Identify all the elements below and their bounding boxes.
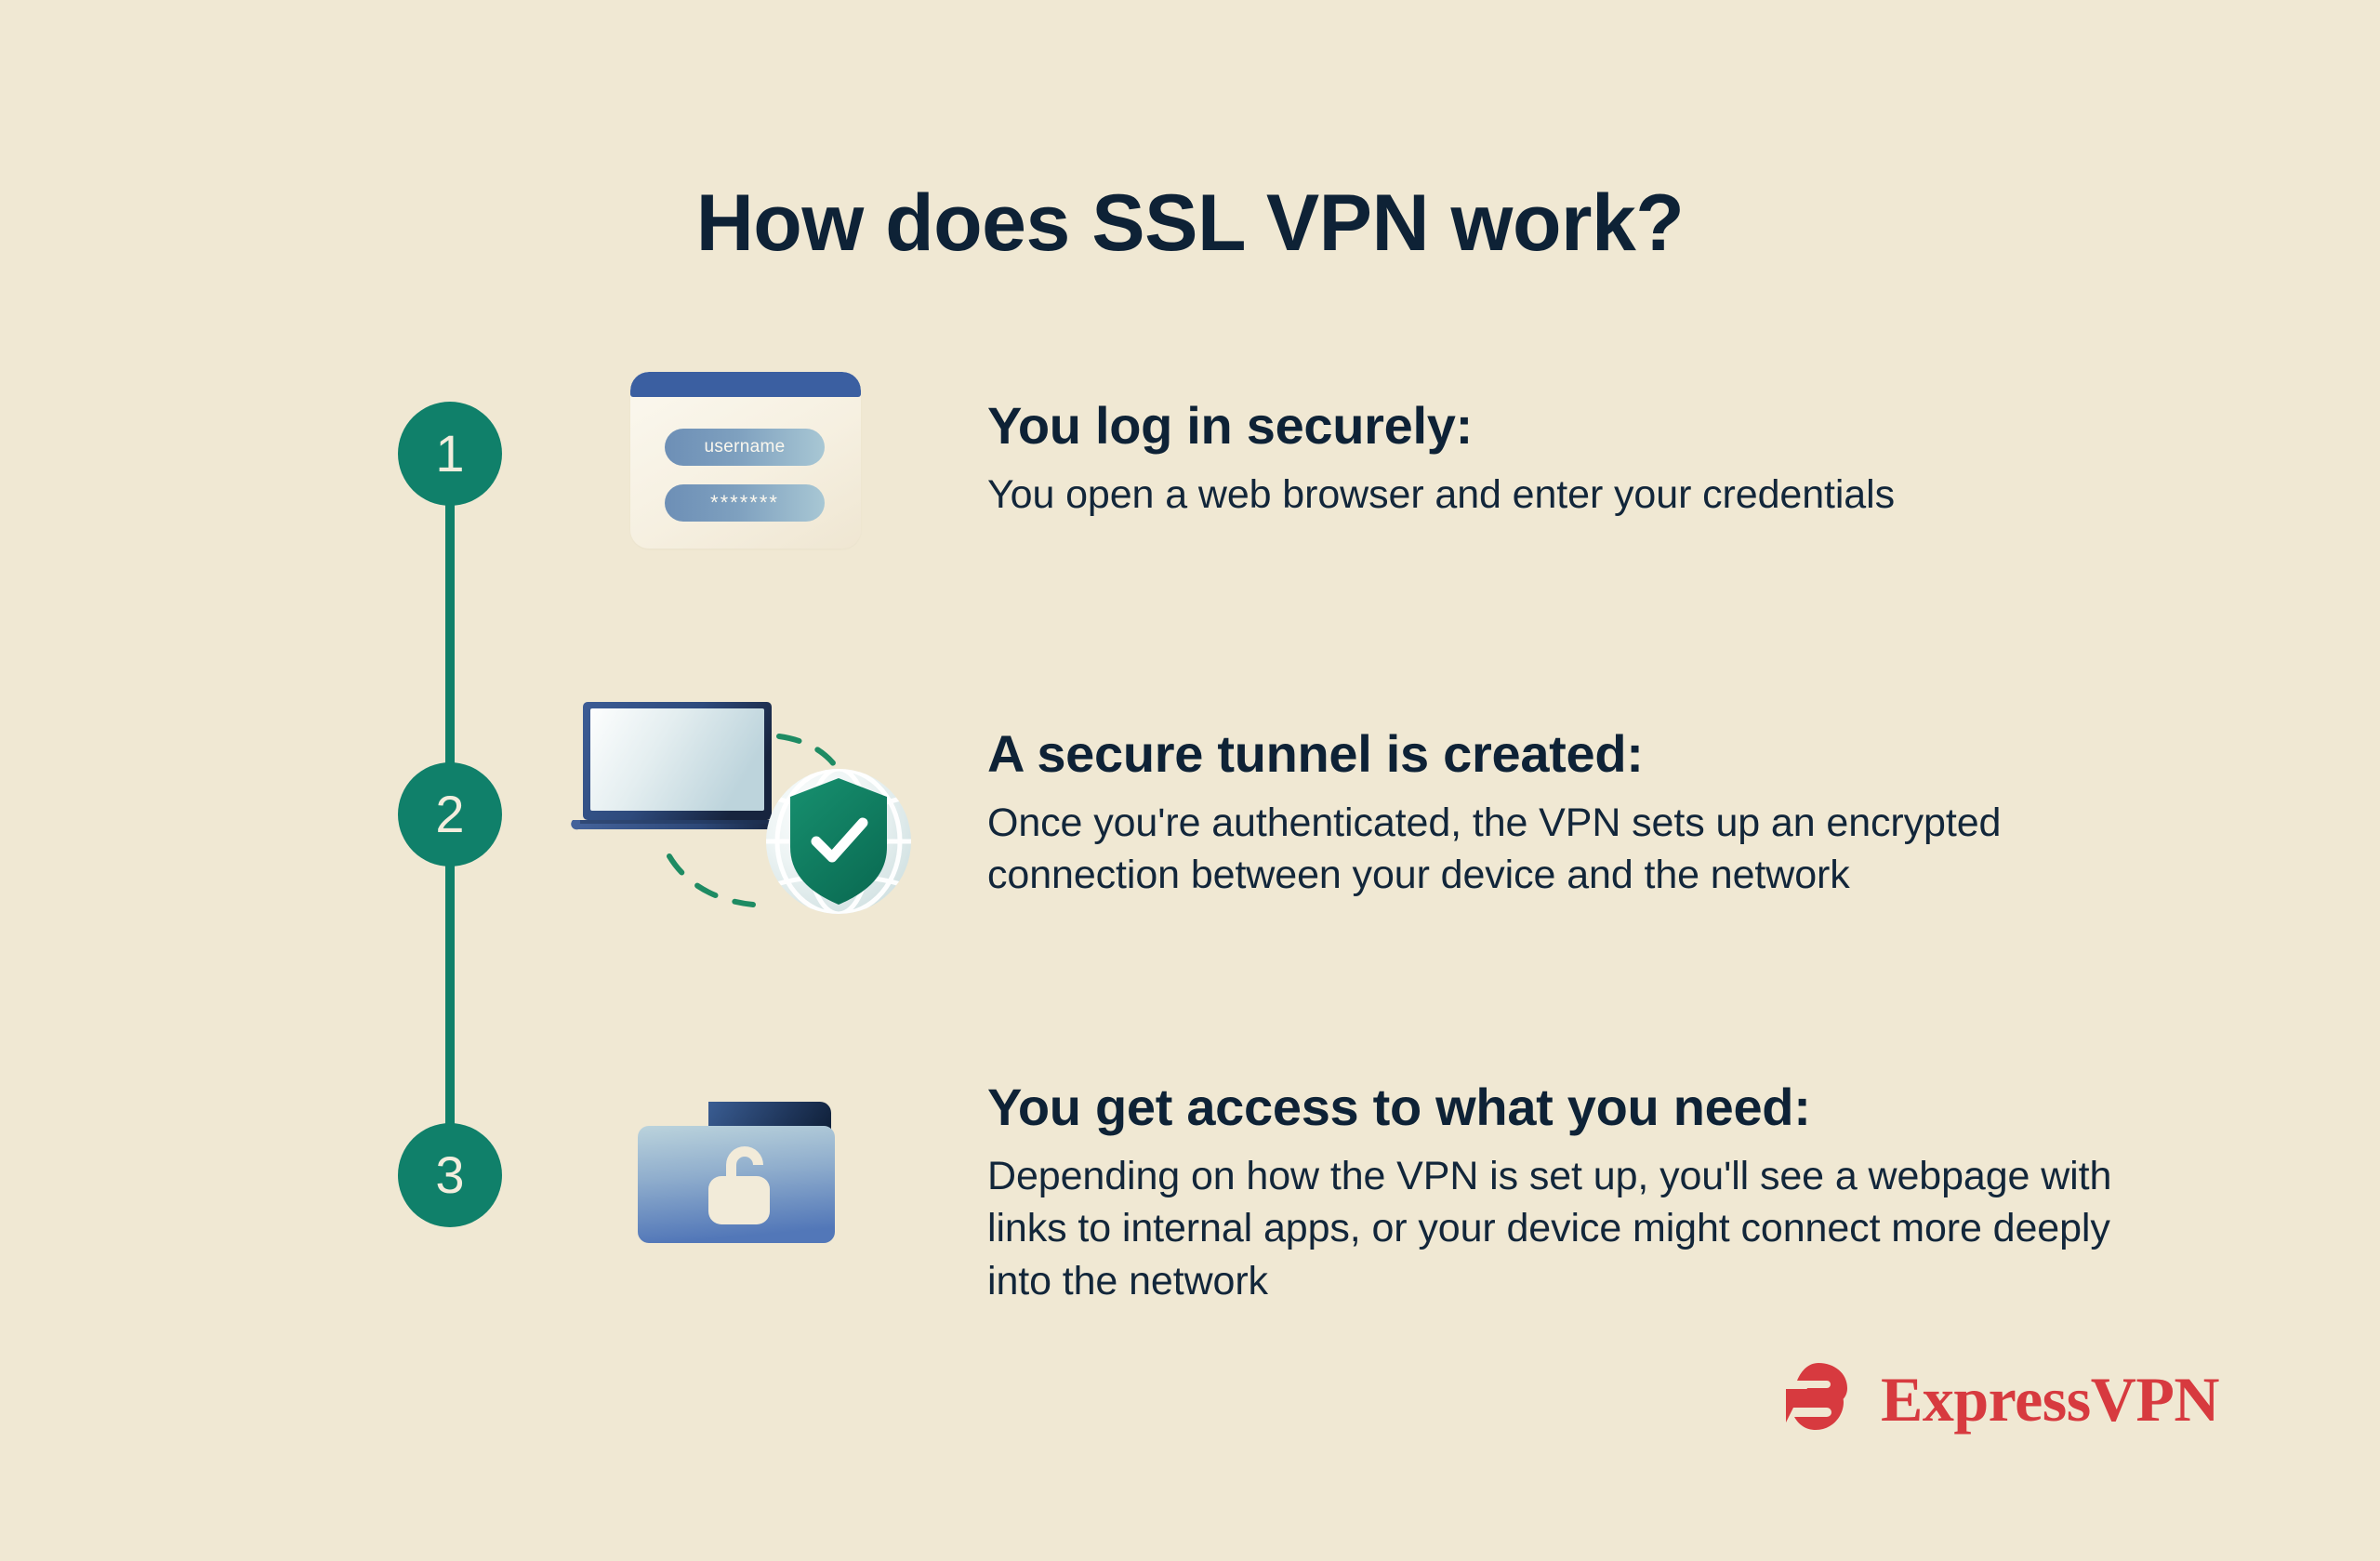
step-1-text: You log in securely: You open a web brow… (987, 397, 2177, 521)
laptop-globe-shield-icon (567, 693, 920, 930)
step-2-description: Once you're authenticated, the VPN sets … (987, 797, 2177, 903)
login-window-icon: username ******* (630, 372, 861, 549)
step-3-heading: You get access to what you need: (987, 1078, 2177, 1137)
login-window-titlebar (630, 372, 861, 397)
folder-unlocked-icon (632, 1083, 837, 1250)
step-row-1: username ******* You log in securely: Yo… (0, 372, 2380, 586)
expressvpn-wordmark: ExpressVPN (1881, 1368, 2219, 1431)
step-3-text: You get access to what you need: Dependi… (987, 1078, 2177, 1308)
username-field: username (665, 429, 825, 466)
expressvpn-e-mark-icon (1780, 1357, 1858, 1440)
expressvpn-logo: ExpressVPN (1780, 1357, 2219, 1440)
step-row-2: A secure tunnel is created: Once you're … (0, 693, 2380, 934)
step-row-3: You get access to what you need: Dependi… (0, 1060, 2380, 1339)
step-2-heading: A secure tunnel is created: (987, 725, 2177, 784)
laptop-shape (571, 702, 786, 829)
step-3-description: Depending on how the VPN is set up, you'… (987, 1150, 2177, 1308)
step-1-heading: You log in securely: (987, 397, 2177, 456)
step-1-description: You open a web browser and enter your cr… (987, 469, 2177, 522)
infographic-canvas: How does SSL VPN work? 1 2 3 username **… (0, 0, 2380, 1561)
page-title: How does SSL VPN work? (0, 179, 2380, 268)
password-field: ******* (665, 484, 825, 522)
step-2-text: A secure tunnel is created: Once you're … (987, 725, 2177, 902)
